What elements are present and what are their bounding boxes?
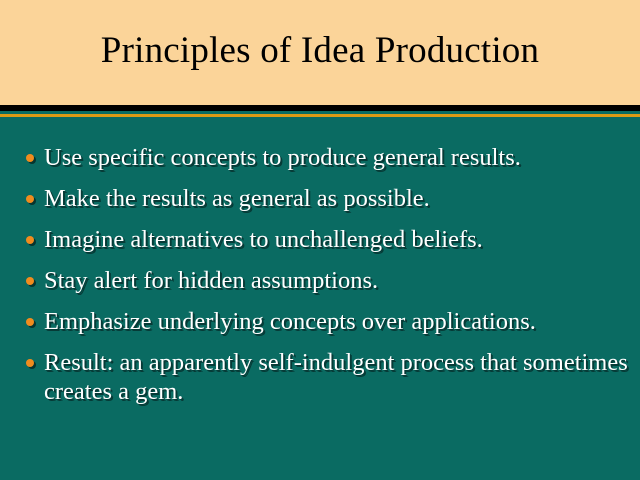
list-item-label: Stay alert for hidden assumptions.: [44, 266, 628, 295]
filled-circle-bullet-icon: [26, 236, 34, 244]
list-item-label: Use specific concepts to produce general…: [44, 143, 628, 172]
list-item: Use specific concepts to produce general…: [22, 143, 628, 172]
slide-canvas: Principles of Idea Production Use specif…: [0, 0, 640, 480]
filled-circle-bullet-icon: [26, 318, 34, 326]
filled-circle-bullet-icon: [26, 195, 34, 203]
filled-circle-bullet-icon: [26, 277, 34, 285]
slide-title: Principles of Idea Production: [0, 28, 640, 74]
list-item: Make the results as general as possible.: [22, 184, 628, 213]
list-item-label: Result: an apparently self-indulgent pro…: [44, 348, 628, 406]
list-item: Result: an apparently self-indulgent pro…: [22, 348, 628, 406]
filled-circle-bullet-icon: [26, 154, 34, 162]
list-item-label: Emphasize underlying concepts over appli…: [44, 307, 628, 336]
bullet-list: Use specific concepts to produce general…: [22, 143, 628, 406]
list-item: Stay alert for hidden assumptions.: [22, 266, 628, 295]
list-item-label: Make the results as general as possible.: [44, 184, 628, 213]
slide-header: Principles of Idea Production: [0, 0, 640, 105]
list-item: Emphasize underlying concepts over appli…: [22, 307, 628, 336]
filled-circle-bullet-icon: [26, 359, 34, 367]
list-item: Imagine alternatives to unchallenged bel…: [22, 225, 628, 254]
list-item-label: Imagine alternatives to unchallenged bel…: [44, 225, 628, 254]
slide-body: Use specific concepts to produce general…: [0, 117, 640, 480]
